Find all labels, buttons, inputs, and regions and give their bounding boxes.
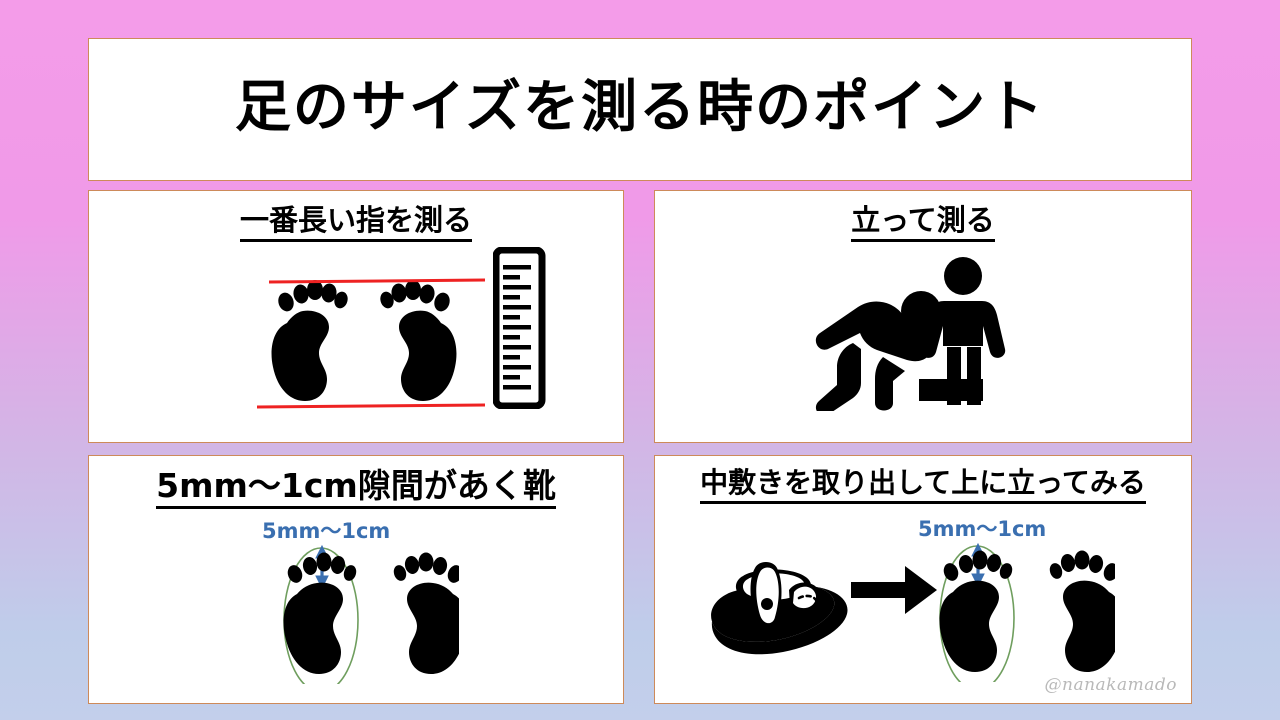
gap-callout-label-bl: 5mm〜1cm (262, 519, 390, 543)
footprint-icon (378, 280, 456, 401)
page-title: 足のサイズを測る時のポイント (235, 80, 1045, 136)
watermark: @nanakamado (1045, 675, 1177, 695)
footprints-gap-illustration: 5mm〜1cm (915, 514, 1115, 682)
footprints-gap-illustration: 5mm〜1cm (259, 516, 459, 684)
panel-heading-top-right-text: 立って測る (851, 205, 995, 242)
panel-heading-bottom-left: 5mm〜1cm隙間があく靴 (89, 468, 623, 509)
panel-heading-bottom-left-text: 5mm〜1cm隙間があく靴 (156, 468, 556, 509)
panel-shoe-gap[interactable]: 5mm〜1cm隙間があく靴 5mm〜1cm (88, 455, 624, 704)
measure-line-bottom (257, 405, 485, 407)
gap-callout-label-br: 5mm〜1cm (918, 517, 1046, 541)
person-measuring-illustration (811, 251, 1031, 411)
footprint-icon (392, 553, 459, 675)
slide-canvas: 足のサイズを測る時のポイント 一番長い指を測る (0, 0, 1280, 720)
footprint-icon (1048, 551, 1115, 673)
panel-heading-top-right: 立って測る (655, 205, 1191, 242)
sandal-arrow-illustration (691, 546, 941, 676)
footprints-ruler-illustration (257, 249, 487, 429)
title-panel: 足のサイズを測る時のポイント (88, 38, 1192, 181)
panel-measure-longest-toe[interactable]: 一番長い指を測る (88, 190, 624, 443)
panel-heading-top-left: 一番長い指を測る (89, 205, 623, 242)
panel-heading-bottom-right-text: 中敷きを取り出して上に立ってみる (700, 468, 1146, 504)
measure-line-top (269, 280, 485, 282)
panel-insole-stand[interactable]: 中敷きを取り出して上に立ってみる (654, 455, 1192, 704)
panel-measure-standing[interactable]: 立って測る (654, 190, 1192, 443)
footprint-icon (272, 280, 350, 401)
panel-heading-top-left-text: 一番長い指を測る (240, 205, 472, 242)
ruler-icon (493, 247, 549, 409)
panel-heading-bottom-right: 中敷きを取り出して上に立ってみる (655, 468, 1191, 504)
sandal-icon (711, 562, 847, 654)
